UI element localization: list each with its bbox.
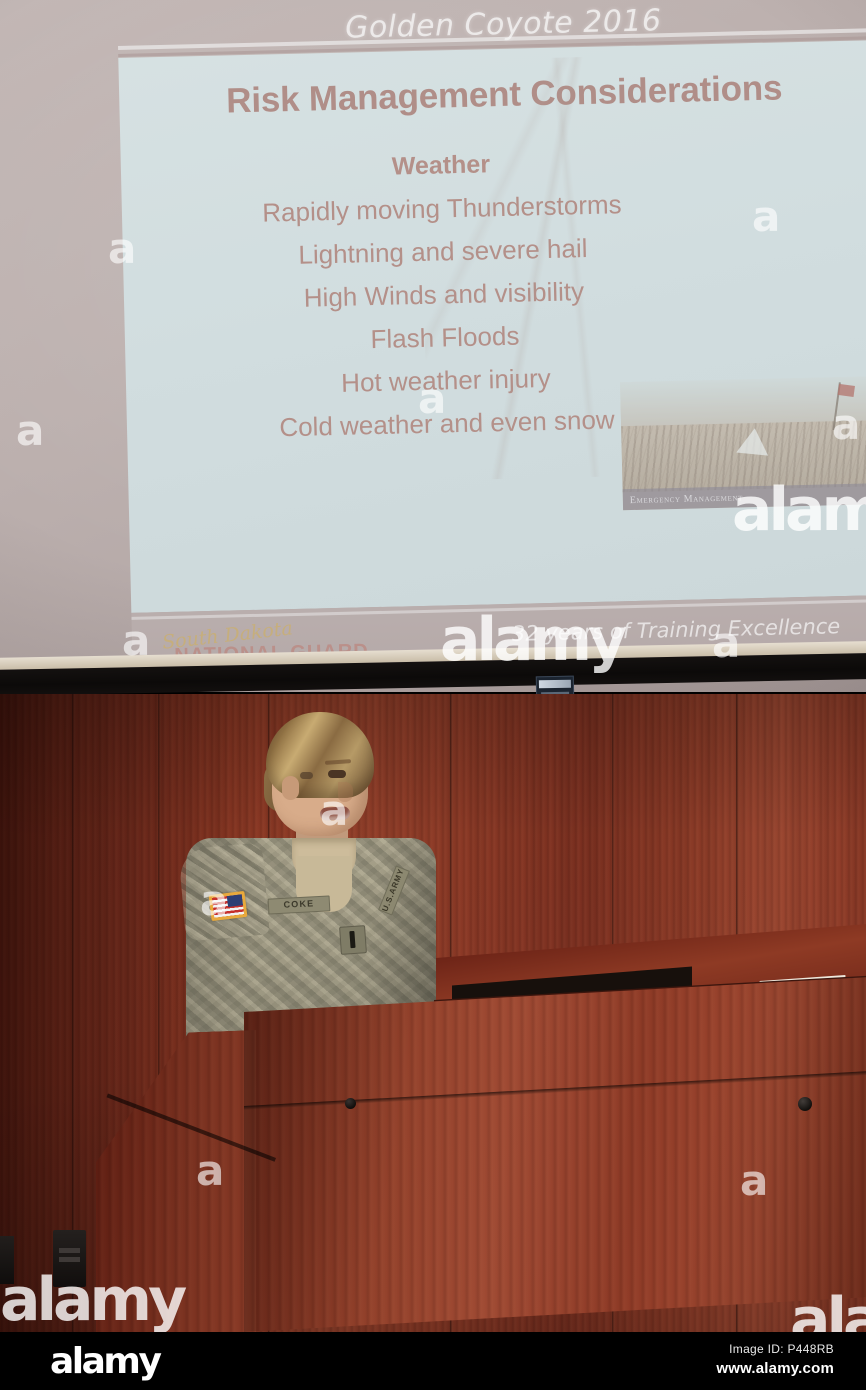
flag-canton <box>227 894 243 907</box>
av-device-slot-lower <box>59 1257 80 1262</box>
av-device-partial <box>0 1236 14 1284</box>
inset-photo-flag <box>838 384 855 397</box>
photograph-frame: Golden Coyote 2016 Risk Management Consi… <box>0 0 866 1390</box>
speaker-name-tape: COKE <box>268 895 331 914</box>
alamy-logo: alamy <box>50 1344 159 1380</box>
wall-plate-screen <box>539 680 571 689</box>
podium-front-panel <box>244 977 866 1332</box>
name-tape-text: COKE <box>269 896 330 912</box>
podium-knob-left <box>345 1098 356 1109</box>
av-device-slot-upper <box>59 1248 80 1253</box>
rank-bar-icon <box>349 931 355 948</box>
inset-photo-wreckage-shape <box>736 426 770 455</box>
slide-footer-tagline: 32 years of Training Excellence <box>512 614 841 646</box>
projected-slide: Risk Management Considerations Weather R… <box>118 28 866 676</box>
av-control-device <box>53 1230 86 1287</box>
slide-inset-photo: Emergency Management <box>620 376 866 510</box>
speaker-far-eye <box>300 772 313 779</box>
speaker-rank-insignia <box>339 925 367 955</box>
speaker-ear <box>282 776 299 800</box>
footer-meta-group: Image ID: P448RB www.alamy.com <box>716 1342 834 1377</box>
speaker-mouth <box>320 806 351 821</box>
speaker-eye <box>328 770 346 778</box>
speaker-left-shoulder <box>178 843 270 942</box>
us-flag-patch-icon <box>209 891 248 921</box>
slide-title: Risk Management Considerations <box>119 66 866 124</box>
image-id-label: Image ID: P448RB <box>716 1342 834 1356</box>
podium-knob-right <box>798 1097 812 1111</box>
slide-content-area: Risk Management Considerations Weather R… <box>118 40 866 613</box>
alamy-footer-bar: alamy Image ID: P448RB www.alamy.com <box>0 1332 866 1390</box>
alamy-url: www.alamy.com <box>716 1360 834 1377</box>
speaker-nose <box>338 782 353 802</box>
